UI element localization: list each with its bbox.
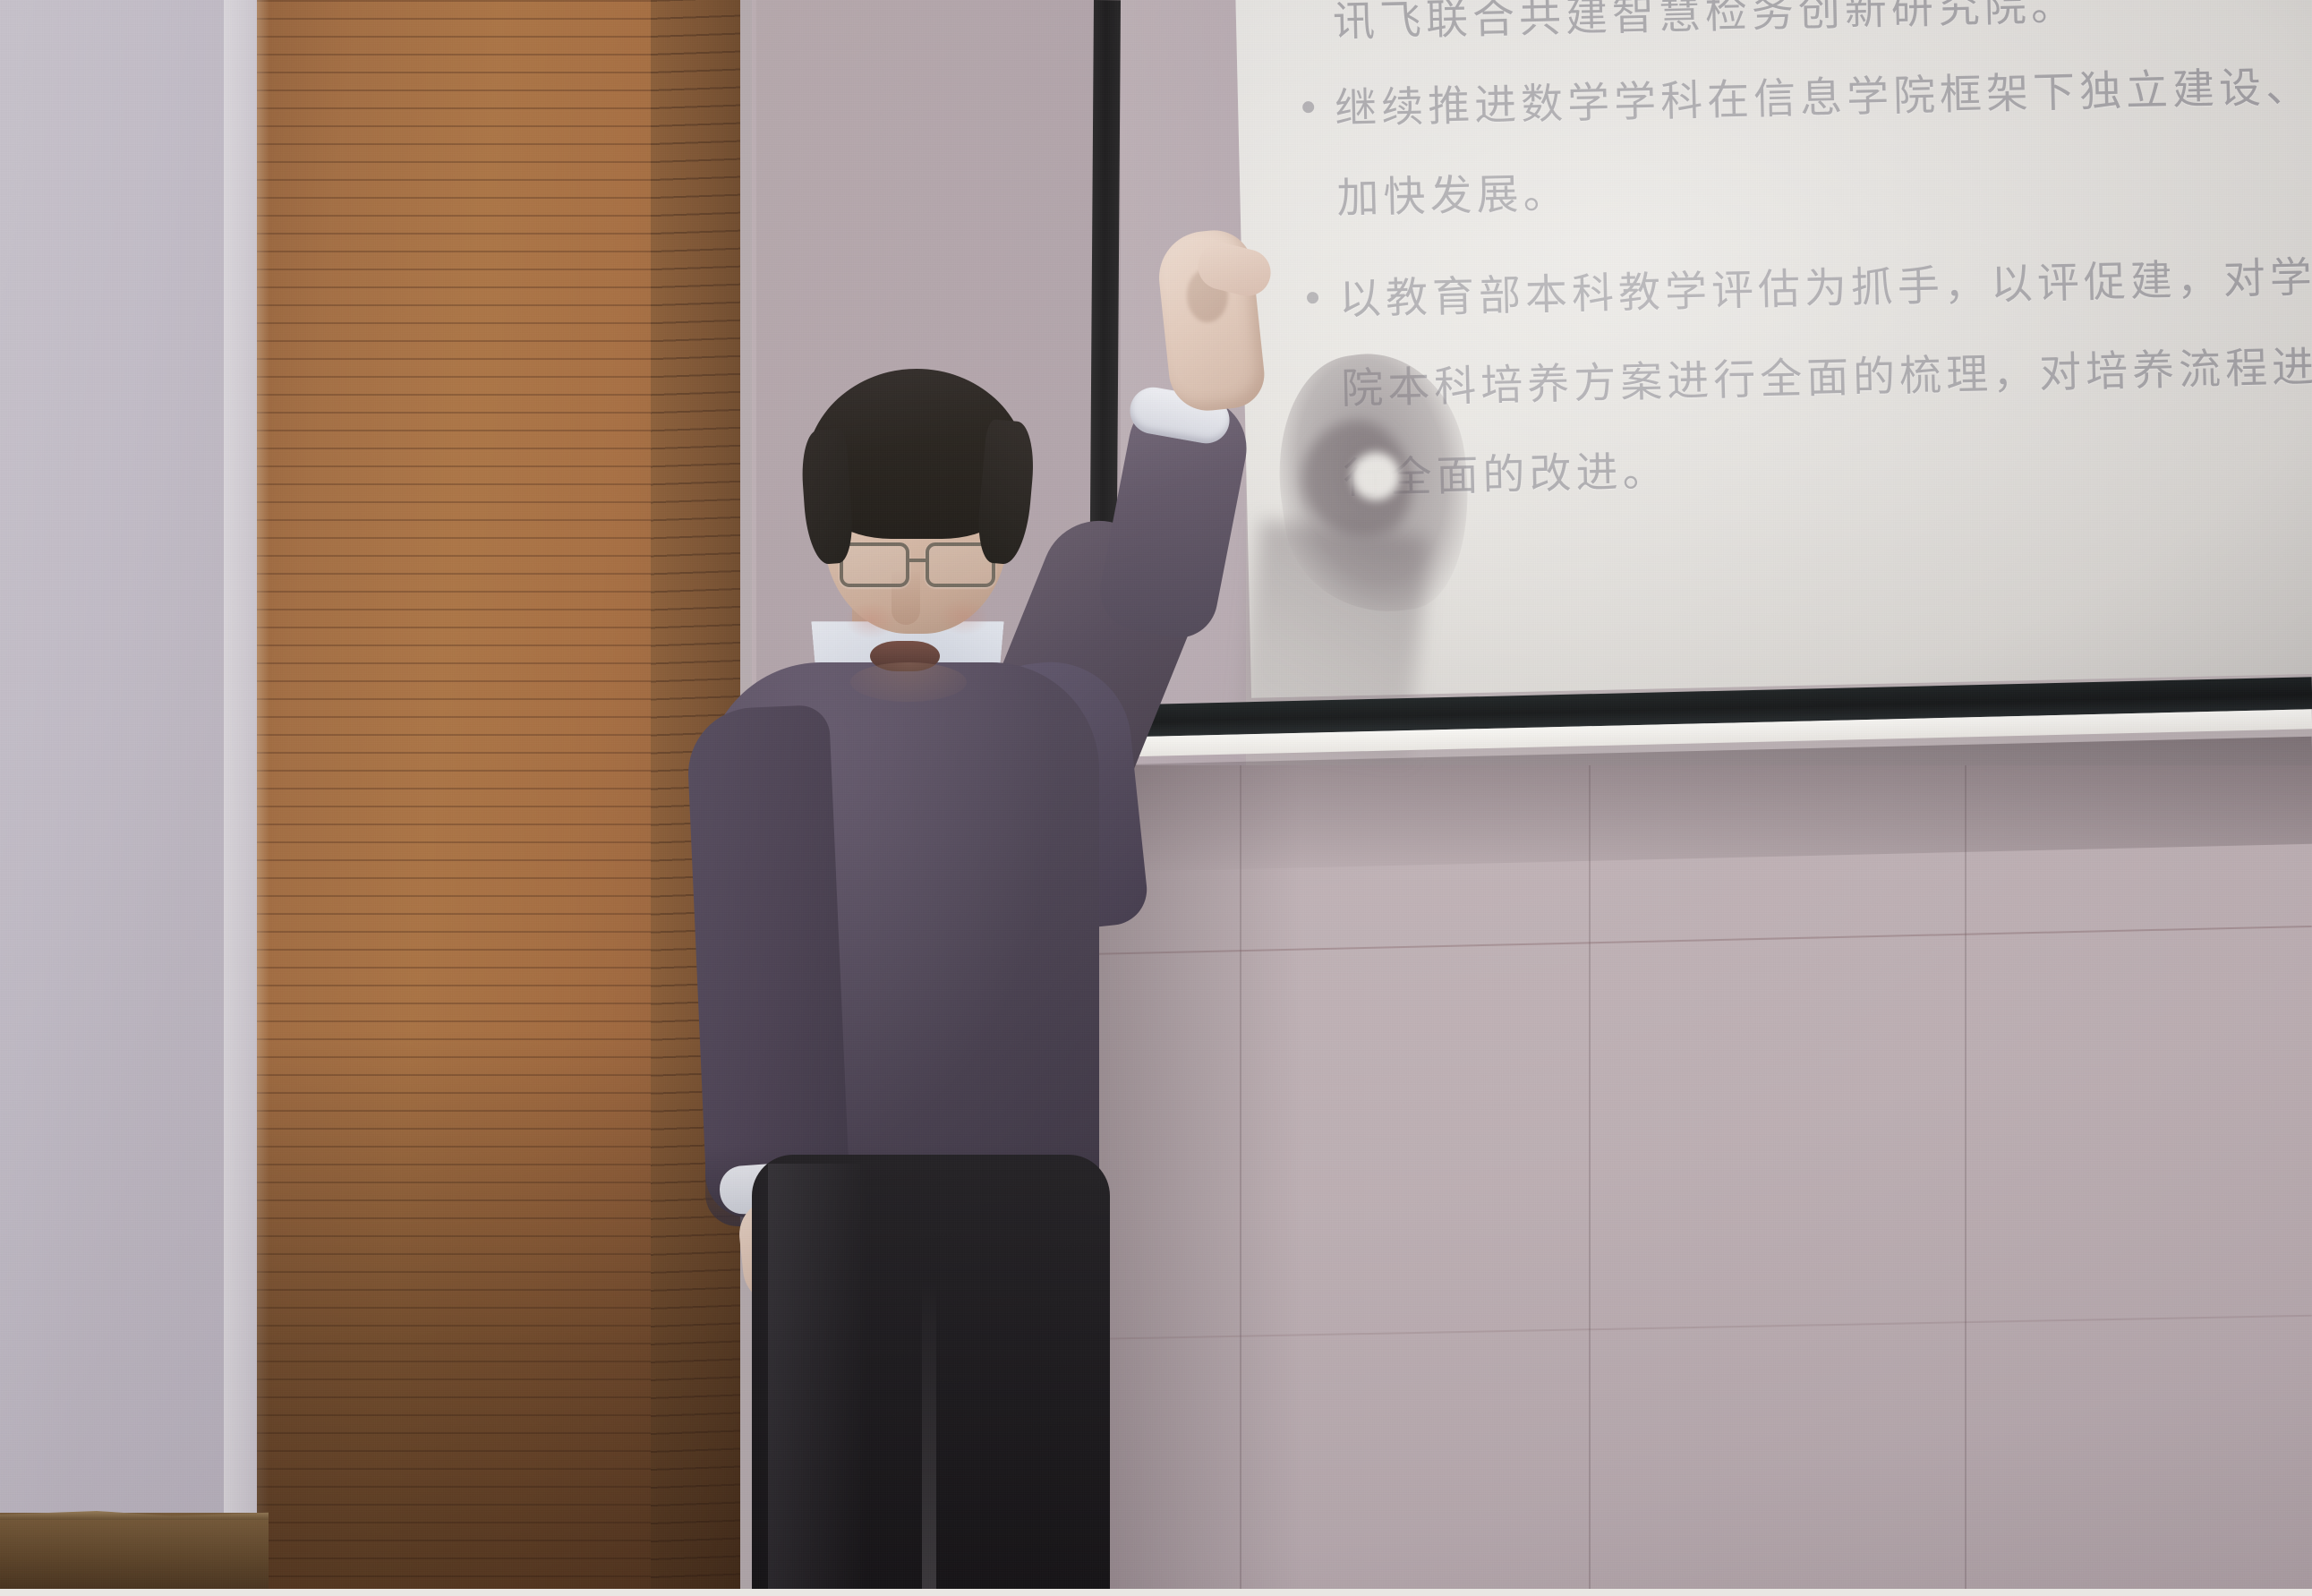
eyeglasses-bridge	[909, 559, 927, 562]
photograph-scene: 讯飞联合共建智慧检务创新研究院。 继续推进数学学科在信息学院框架下独立建设、 加…	[0, 0, 2312, 1596]
presenter	[0, 0, 2312, 1596]
cheek-right	[938, 598, 990, 636]
trouser-leg-seam	[922, 1280, 936, 1596]
cheek-left	[845, 602, 897, 639]
trousers-highlight	[768, 1164, 866, 1596]
photo-bottom-border	[0, 1589, 2312, 1596]
chin-shadow	[850, 662, 967, 702]
hair-side-left	[799, 428, 855, 565]
eyeglasses-lens-left	[840, 542, 909, 587]
left-arm-sleeve	[686, 704, 850, 1211]
